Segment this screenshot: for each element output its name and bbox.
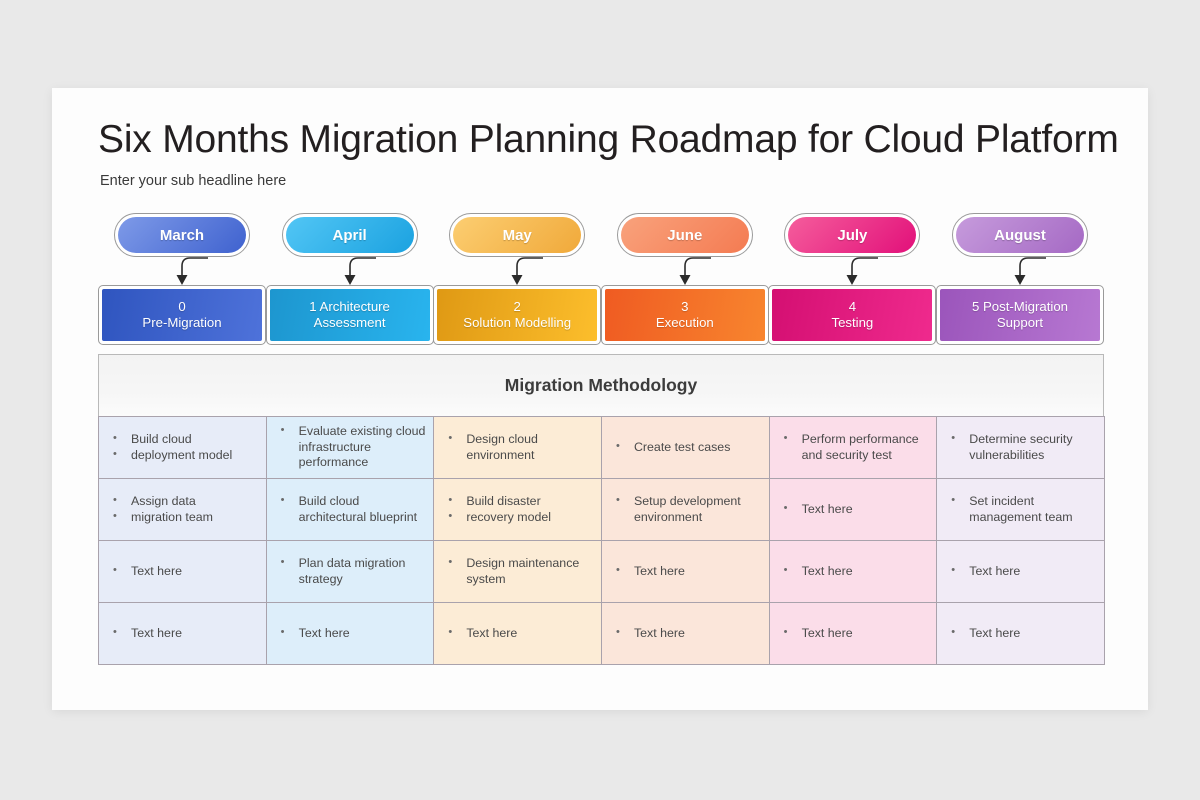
cell-bullet-list: Design cloud environment <box>444 432 597 463</box>
cell-bullet-item: Create test cases <box>612 440 765 456</box>
table-cell[interactable]: Text here <box>601 603 769 665</box>
cell-bullet-item: Evaluate existing cloud infrastructure p… <box>277 424 430 471</box>
cell-bullet-list: Build clouddeployment model <box>109 432 262 463</box>
cell-bullet-item: Text here <box>780 502 933 518</box>
cell-bullet-list: Design maintenance system <box>444 556 597 587</box>
phase-name: Solution Modelling <box>463 315 571 332</box>
month-pill-label: May <box>453 217 581 253</box>
phase-name: Support <box>997 315 1043 332</box>
table-cell[interactable]: Text here <box>601 541 769 603</box>
phase-number: 2 <box>514 299 521 316</box>
phase-box-0[interactable]: 0Pre-Migration <box>98 285 266 345</box>
phase-number: 1 Architecture <box>309 299 390 316</box>
table-cell[interactable]: Assign datamigration team <box>99 479 267 541</box>
table-cell[interactable]: Text here <box>769 541 937 603</box>
phase-name: Testing <box>831 315 873 332</box>
cell-bullet-item: Text here <box>612 626 765 642</box>
cell-bullet-list: Text here <box>612 626 765 642</box>
table-cell[interactable]: Determine security vulnerabilities <box>937 417 1105 479</box>
cell-bullet-item: Determine security vulnerabilities <box>947 432 1100 463</box>
cell-bullet-item: Design cloud environment <box>444 432 597 463</box>
methodology-title: Migration Methodology <box>505 375 697 396</box>
cell-bullet-item: Build disaster <box>444 494 597 510</box>
cell-bullet-item: Build cloud architectural blueprint <box>277 494 430 525</box>
cell-bullet-list: Text here <box>780 502 933 518</box>
table-cell[interactable]: Text here <box>769 479 937 541</box>
cell-bullet-list: Text here <box>780 626 933 642</box>
phase-name: Pre-Migration <box>142 315 221 332</box>
cell-bullet-list: Build cloud architectural blueprint <box>277 494 430 525</box>
phase-box-2[interactable]: 2Solution Modelling <box>433 285 601 345</box>
phase-box-content: 1 ArchitectureAssessment <box>270 289 430 341</box>
roadmap-column: May2Solution Modelling <box>433 213 601 353</box>
cell-bullet-item: Text here <box>947 626 1100 642</box>
phase-number: 5 Post-Migration <box>972 299 1068 316</box>
table-cell[interactable]: Setup development environment <box>601 479 769 541</box>
cell-bullet-list: Text here <box>277 626 430 642</box>
table-cell[interactable]: Text here <box>99 603 267 665</box>
month-pill-june[interactable]: June <box>617 213 753 257</box>
cell-bullet-list: Perform performance and security test <box>780 432 933 463</box>
cell-bullet-list: Evaluate existing cloud infrastructure p… <box>277 424 430 471</box>
table-cell[interactable]: Text here <box>434 603 602 665</box>
table-cell[interactable]: Build disasterrecovery model <box>434 479 602 541</box>
page-title: Six Months Migration Planning Roadmap fo… <box>98 118 1119 162</box>
month-pill-label: April <box>286 217 414 253</box>
cell-bullet-item: Text here <box>277 626 430 642</box>
table-cell[interactable]: Design maintenance system <box>434 541 602 603</box>
table-cell[interactable]: Perform performance and security test <box>769 417 937 479</box>
phase-box-5[interactable]: 5 Post-MigrationSupport <box>936 285 1104 345</box>
cell-bullet-list: Text here <box>444 626 597 642</box>
cell-bullet-item: Plan data migration strategy <box>277 556 430 587</box>
phase-box-content: 0Pre-Migration <box>102 289 262 341</box>
cell-bullet-item: migration team <box>109 510 262 526</box>
cell-bullet-item: deployment model <box>109 448 262 464</box>
phase-name: Execution <box>656 315 714 332</box>
month-pill-july[interactable]: July <box>784 213 920 257</box>
month-pill-april[interactable]: April <box>282 213 418 257</box>
table-cell[interactable]: Evaluate existing cloud infrastructure p… <box>266 417 434 479</box>
cell-bullet-list: Build disasterrecovery model <box>444 494 597 525</box>
roadmap-column: June3Execution <box>601 213 769 353</box>
table-cell[interactable]: Text here <box>937 541 1105 603</box>
phase-box-content: 3Execution <box>605 289 765 341</box>
cell-bullet-item: Text here <box>947 564 1100 580</box>
table-cell[interactable]: Text here <box>99 541 267 603</box>
cell-bullet-list: Determine security vulnerabilities <box>947 432 1100 463</box>
slide-canvas: Six Months Migration Planning Roadmap fo… <box>52 88 1148 710</box>
phase-box-1[interactable]: 1 ArchitectureAssessment <box>266 285 434 345</box>
cell-bullet-item: Text here <box>444 626 597 642</box>
cell-bullet-item: Text here <box>612 564 765 580</box>
cell-bullet-item: Text here <box>109 564 262 580</box>
table-cell[interactable]: Design cloud environment <box>434 417 602 479</box>
cell-bullet-list: Create test cases <box>612 440 765 456</box>
table-cell[interactable]: Text here <box>266 603 434 665</box>
roadmap-column: July4Testing <box>768 213 936 353</box>
month-pill-label: March <box>118 217 246 253</box>
roadmap-column: March0Pre-Migration <box>98 213 266 353</box>
cell-bullet-list: Text here <box>109 626 262 642</box>
phase-box-content: 4Testing <box>772 289 932 341</box>
methodology-table: Build clouddeployment modelEvaluate exis… <box>98 416 1105 665</box>
table-cell[interactable]: Text here <box>937 603 1105 665</box>
phase-name: Assessment <box>314 315 386 332</box>
table-cell[interactable]: Create test cases <box>601 417 769 479</box>
table-cell[interactable]: Text here <box>769 603 937 665</box>
phase-box-content: 5 Post-MigrationSupport <box>940 289 1100 341</box>
table-cell[interactable]: Plan data migration strategy <box>266 541 434 603</box>
cell-bullet-list: Setup development environment <box>612 494 765 525</box>
phase-box-content: 2Solution Modelling <box>437 289 597 341</box>
cell-bullet-list: Assign datamigration team <box>109 494 262 525</box>
cell-bullet-list: Text here <box>947 564 1100 580</box>
phase-number: 3 <box>681 299 688 316</box>
roadmap-column: April1 ArchitectureAssessment <box>266 213 434 353</box>
phase-number: 4 <box>849 299 856 316</box>
cell-bullet-list: Plan data migration strategy <box>277 556 430 587</box>
cell-bullet-list: Text here <box>780 564 933 580</box>
table-row: Build clouddeployment modelEvaluate exis… <box>99 417 1105 479</box>
table-row: Text herePlan data migration strategyDes… <box>99 541 1105 603</box>
cell-bullet-list: Text here <box>109 564 262 580</box>
page-subtitle: Enter your sub headline here <box>100 173 286 189</box>
table-cell[interactable]: Build clouddeployment model <box>99 417 267 479</box>
cell-bullet-item: Set incident management team <box>947 494 1100 525</box>
cell-bullet-item: Perform performance and security test <box>780 432 933 463</box>
cell-bullet-item: Assign data <box>109 494 262 510</box>
table-row: Text hereText hereText hereText hereText… <box>99 603 1105 665</box>
cell-bullet-list: Text here <box>947 626 1100 642</box>
table-cell[interactable]: Build cloud architectural blueprint <box>266 479 434 541</box>
phase-box-3[interactable]: 3Execution <box>601 285 769 345</box>
cell-bullet-item: Design maintenance system <box>444 556 597 587</box>
table-row: Assign datamigration teamBuild cloud arc… <box>99 479 1105 541</box>
table-cell[interactable]: Set incident management team <box>937 479 1105 541</box>
roadmap-column: August5 Post-MigrationSupport <box>936 213 1104 353</box>
cell-bullet-list: Text here <box>612 564 765 580</box>
month-pill-august[interactable]: August <box>952 213 1088 257</box>
month-pill-march[interactable]: March <box>114 213 250 257</box>
cell-bullet-item: Text here <box>780 564 933 580</box>
cell-bullet-item: Text here <box>109 626 262 642</box>
cell-bullet-item: Build cloud <box>109 432 262 448</box>
cell-bullet-item: Text here <box>780 626 933 642</box>
month-pill-label: August <box>956 217 1084 253</box>
cell-bullet-item: recovery model <box>444 510 597 526</box>
month-pill-label: June <box>621 217 749 253</box>
cell-bullet-list: Set incident management team <box>947 494 1100 525</box>
month-pill-may[interactable]: May <box>449 213 585 257</box>
roadmap-row: March0Pre-MigrationApril1 ArchitectureAs… <box>98 213 1104 353</box>
phase-box-4[interactable]: 4Testing <box>768 285 936 345</box>
month-pill-label: July <box>788 217 916 253</box>
phase-number: 0 <box>178 299 185 316</box>
cell-bullet-item: Setup development environment <box>612 494 765 525</box>
methodology-band: Migration Methodology <box>98 354 1104 416</box>
